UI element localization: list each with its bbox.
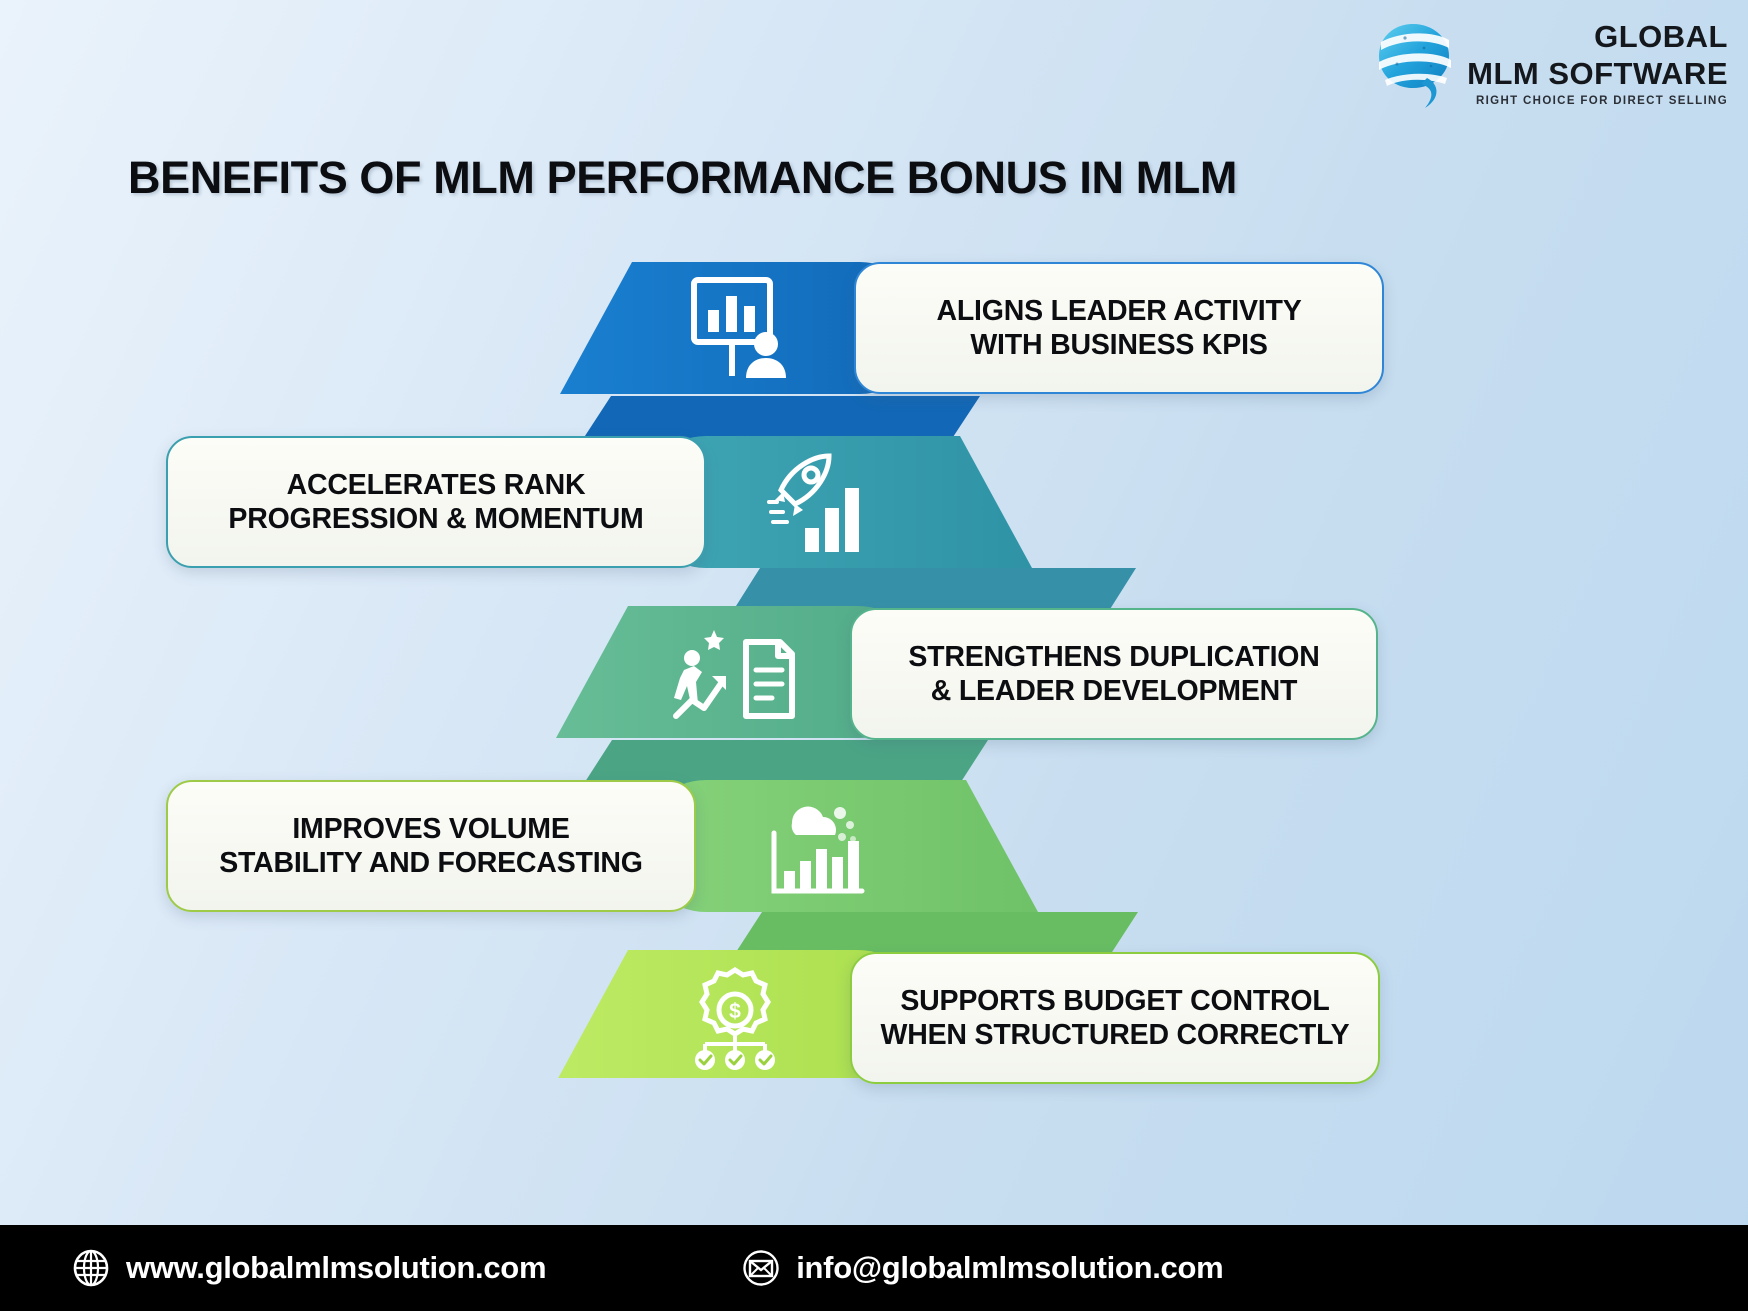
benefit-text-5: SUPPORTS BUDGET CONTROL WHEN STRUCTURED … bbox=[881, 984, 1350, 1053]
benefit-text-3: STRENGTHENS DUPLICATION & LEADER DEVELOP… bbox=[908, 640, 1319, 709]
cloud-forecast-chart-icon bbox=[752, 793, 870, 899]
benefit-text-1: ALIGNS LEADER ACTIVITY WITH BUSINESS KPI… bbox=[936, 294, 1301, 363]
logo-line-2: MLM SOFTWARE bbox=[1467, 58, 1728, 89]
footer-bar: www.globalmlmsolution.com info@globalmlm… bbox=[0, 1225, 1748, 1311]
benefit-text-2: ACCELERATES RANK PROGRESSION & MOMENTUM bbox=[228, 468, 643, 537]
benefit-row-2[interactable]: ACCELERATES RANK PROGRESSION & MOMENTUM bbox=[166, 436, 936, 568]
envelope-icon bbox=[742, 1249, 780, 1287]
benefit-chip-4[interactable]: IMPROVES VOLUME STABILITY AND FORECASTIN… bbox=[166, 780, 696, 912]
footer-email-text: info@globalmlmsolution.com bbox=[796, 1250, 1223, 1286]
benefit-icon-5: $ bbox=[620, 952, 850, 1084]
benefit-chip-5[interactable]: SUPPORTS BUDGET CONTROL WHEN STRUCTURED … bbox=[850, 952, 1380, 1084]
person-star-arrow-document-icon bbox=[670, 624, 800, 724]
footer-website-text: www.globalmlmsolution.com bbox=[126, 1250, 546, 1286]
footer-website[interactable]: www.globalmlmsolution.com bbox=[72, 1249, 546, 1287]
benefit-row-1[interactable]: ALIGNS LEADER ACTIVITY WITH BUSINESS KPI… bbox=[624, 262, 1384, 394]
benefit-row-4[interactable]: IMPROVES VOLUME STABILITY AND FORECASTIN… bbox=[166, 780, 926, 912]
globe-icon bbox=[72, 1249, 110, 1287]
globe-logo-icon bbox=[1369, 18, 1455, 110]
benefit-row-3[interactable]: STRENGTHENS DUPLICATION & LEADER DEVELOP… bbox=[620, 608, 1378, 740]
benefit-icon-1 bbox=[624, 262, 854, 394]
benefit-text-4: IMPROVES VOLUME STABILITY AND FORECASTIN… bbox=[219, 812, 643, 881]
benefit-icon-4 bbox=[696, 780, 926, 912]
page-title: BENEFITS OF MLM PERFORMANCE BONUS IN MLM bbox=[128, 152, 1237, 204]
benefit-chip-3[interactable]: STRENGTHENS DUPLICATION & LEADER DEVELOP… bbox=[850, 608, 1378, 740]
brand-logo: GLOBAL MLM SOFTWARE RIGHT CHOICE FOR DIR… bbox=[1369, 18, 1728, 110]
svg-text:$: $ bbox=[729, 1000, 741, 1023]
budget-gear-checklist-icon: $ bbox=[679, 964, 791, 1072]
benefit-icon-2 bbox=[706, 436, 936, 568]
benefit-icon-3 bbox=[620, 608, 850, 740]
logo-line-1: GLOBAL bbox=[1594, 21, 1728, 52]
infographic-page: GLOBAL MLM SOFTWARE RIGHT CHOICE FOR DIR… bbox=[0, 0, 1748, 1311]
benefit-chip-2[interactable]: ACCELERATES RANK PROGRESSION & MOMENTUM bbox=[166, 436, 706, 568]
presentation-chart-person-icon bbox=[680, 274, 798, 382]
logo-tagline: RIGHT CHOICE FOR DIRECT SELLING bbox=[1476, 96, 1728, 108]
benefit-row-5[interactable]: $ SUPPORTS BUDGET CONTROL WHEN STRUCTURE… bbox=[620, 952, 1380, 1084]
footer-email[interactable]: info@globalmlmsolution.com bbox=[742, 1249, 1223, 1287]
rocket-bar-chart-icon bbox=[765, 450, 877, 554]
benefit-chip-1[interactable]: ALIGNS LEADER ACTIVITY WITH BUSINESS KPI… bbox=[854, 262, 1384, 394]
